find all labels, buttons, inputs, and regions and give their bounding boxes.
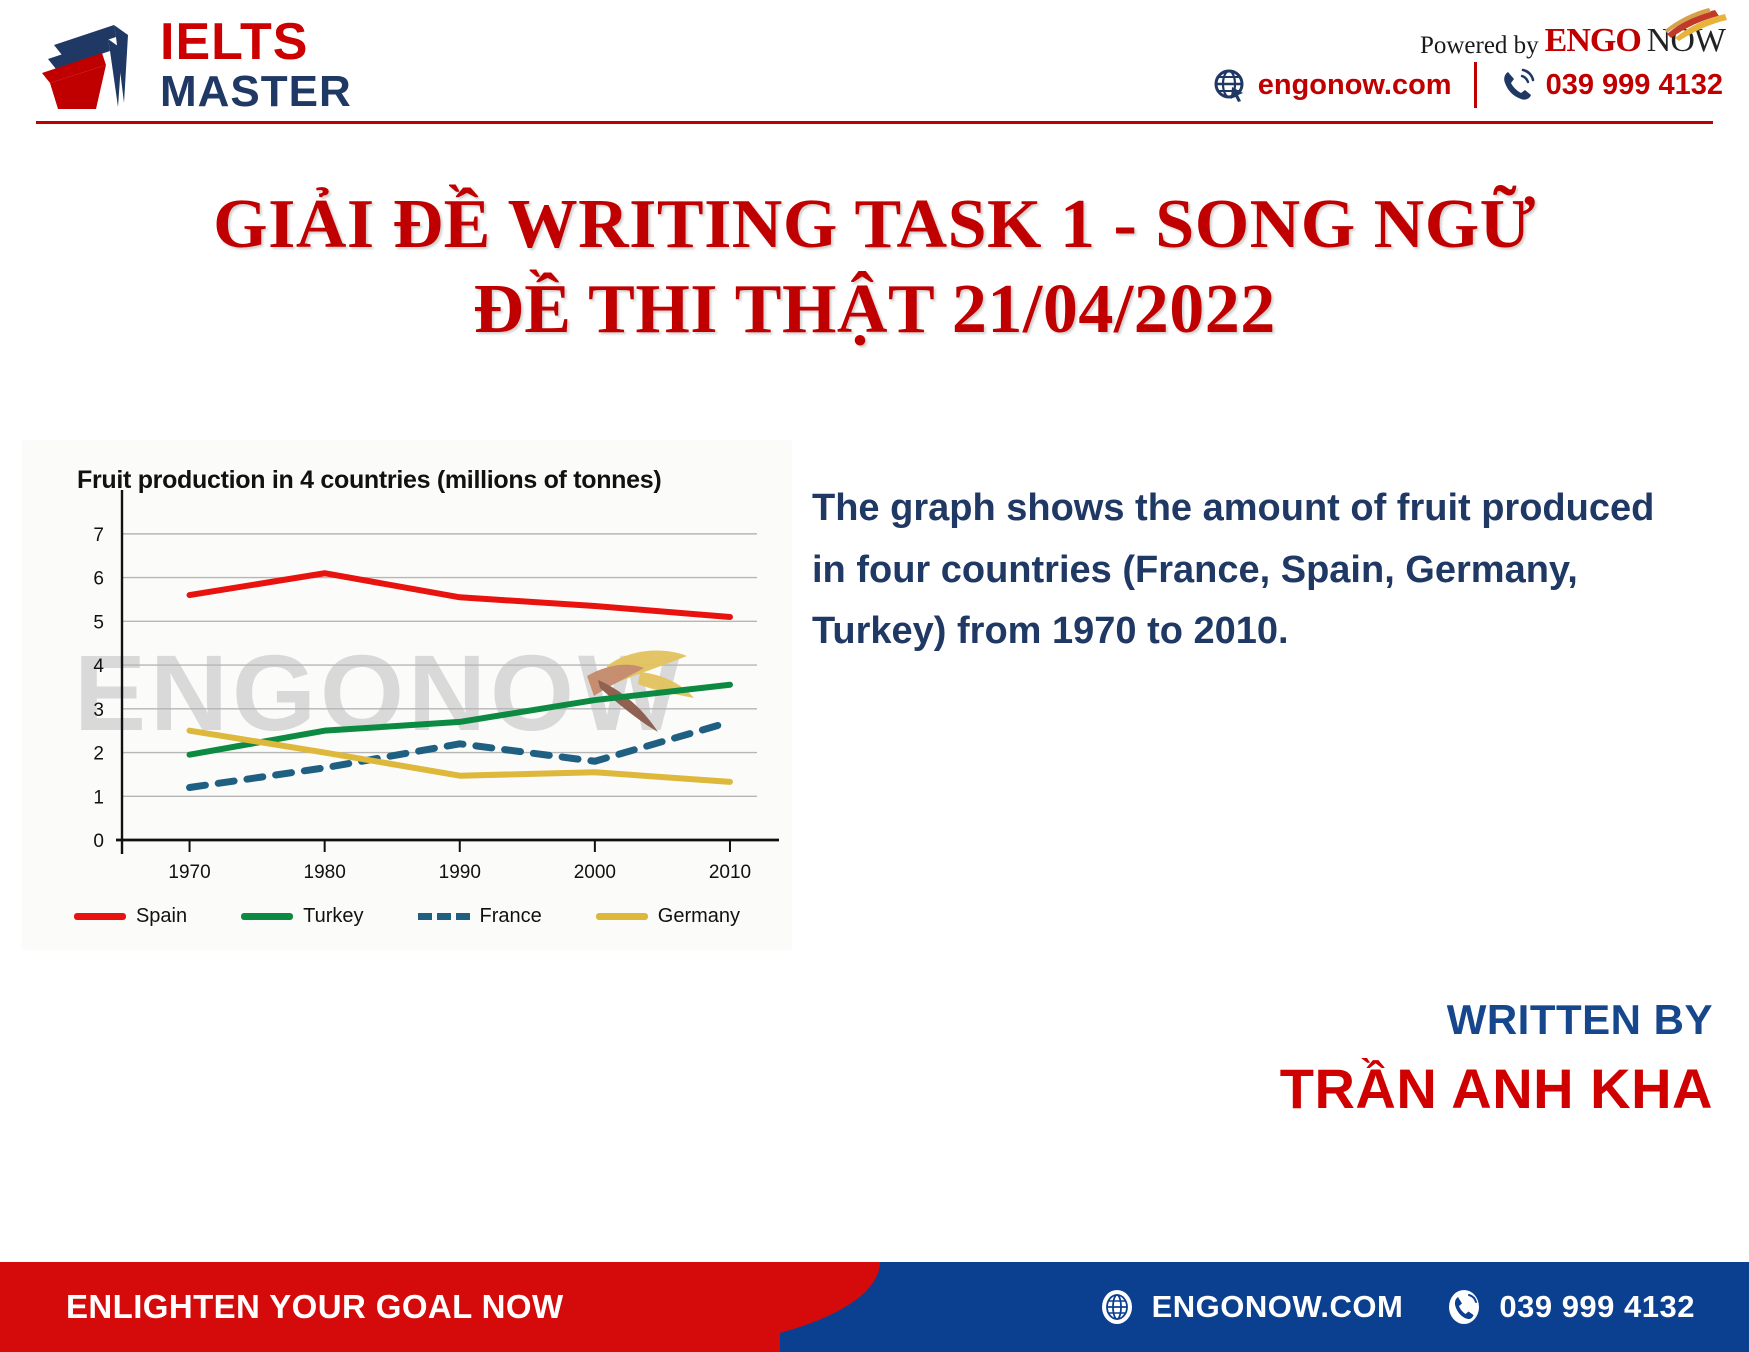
x-axis-tick-label: 1970	[168, 862, 210, 883]
book-swoosh-icon	[1663, 8, 1731, 42]
legend-swatch-icon	[418, 913, 470, 920]
y-axis-tick-label: 5	[93, 612, 104, 633]
header-divider	[1474, 62, 1477, 108]
page-title-line-1: GIẢI ĐỀ WRITING TASK 1 - SONG NGỮ	[0, 182, 1749, 267]
x-axis-tick-label: 1990	[439, 862, 481, 883]
chart-series-spain	[190, 573, 730, 617]
footer-website[interactable]: ENGONOW.COM	[1098, 1288, 1404, 1326]
y-axis-tick-label: 7	[93, 525, 104, 546]
legend-label: Spain	[136, 905, 187, 928]
page-header: IELTS MASTER Powered by ENGO NOW engonow…	[0, 0, 1749, 130]
y-axis-tick-label: 4	[93, 656, 104, 677]
y-axis-tick-label: 3	[93, 700, 104, 721]
x-axis-tick-label: 2010	[709, 862, 751, 883]
phone-icon	[1499, 67, 1535, 103]
y-axis-tick-label: 0	[93, 831, 104, 852]
legend-swatch-icon	[596, 913, 648, 920]
header-phone-text: 039 999 4132	[1546, 69, 1723, 102]
chart-card: Fruit production in 4 countries (million…	[22, 440, 792, 950]
header-contact-row: engonow.com 039 999 4132	[1213, 62, 1723, 108]
footer-website-text: ENGONOW.COM	[1152, 1289, 1404, 1325]
header-phone[interactable]: 039 999 4132	[1499, 67, 1723, 103]
footer-phone[interactable]: 039 999 4132	[1445, 1288, 1695, 1326]
stacked-books-logo-icon	[36, 17, 156, 113]
legend-label: Turkey	[303, 905, 363, 928]
chart-legend: SpainTurkeyFranceGermany	[22, 905, 792, 928]
y-axis-tick-label: 2	[93, 744, 104, 765]
author-name: TRẦN ANH KHA	[1013, 1056, 1713, 1121]
page-title-line-2: ĐỀ THI THẬT 21/04/2022	[0, 267, 1749, 352]
legend-swatch-icon	[241, 913, 293, 920]
footer-phone-text: 039 999 4132	[1499, 1289, 1695, 1325]
powered-by-prefix: Powered by	[1420, 32, 1539, 60]
page-title: GIẢI ĐỀ WRITING TASK 1 - SONG NGỮ ĐỀ THI…	[0, 182, 1749, 353]
legend-label: France	[480, 905, 542, 928]
phone-icon	[1445, 1288, 1483, 1326]
legend-item-france[interactable]: France	[418, 905, 542, 928]
x-axis-tick-label: 1980	[304, 862, 346, 883]
legend-label: Germany	[658, 905, 740, 928]
y-axis-tick-label: 1	[93, 787, 104, 808]
author-block: WRITTEN BY TRẦN ANH KHA	[1013, 996, 1713, 1121]
y-axis-tick-label: 6	[93, 569, 104, 590]
written-by-label: WRITTEN BY	[1013, 996, 1713, 1044]
chart-plot-area: 0123456719701980199020002010	[22, 440, 792, 950]
brand-logo[interactable]: IELTS MASTER	[36, 16, 352, 114]
globe-icon	[1098, 1288, 1136, 1326]
legend-swatch-icon	[74, 913, 126, 920]
legend-item-spain[interactable]: Spain	[74, 905, 187, 928]
powered-brand-engo: ENGO	[1545, 22, 1641, 60]
logo-text-master: MASTER	[160, 70, 352, 114]
header-divider-rule	[36, 121, 1713, 124]
legend-item-turkey[interactable]: Turkey	[241, 905, 363, 928]
logo-text-ielts: IELTS	[160, 16, 352, 68]
task-prompt: The graph shows the amount of fruit prod…	[812, 478, 1692, 663]
x-axis-tick-label: 2000	[574, 862, 616, 883]
task-prompt-text: The graph shows the amount of fruit prod…	[812, 478, 1692, 663]
footer-contact-row: ENGONOW.COM 039 999 4132	[1098, 1262, 1695, 1352]
header-website[interactable]: engonow.com	[1213, 68, 1452, 102]
globe-cursor-icon	[1213, 68, 1247, 102]
header-website-text: engonow.com	[1258, 69, 1452, 102]
powered-by-block: Powered by ENGO NOW	[1420, 22, 1725, 60]
legend-item-germany[interactable]: Germany	[596, 905, 740, 928]
page-footer: ENLIGHTEN YOUR GOAL NOW ENGONOW.COM 039 …	[0, 1262, 1749, 1352]
footer-slogan: ENLIGHTEN YOUR GOAL NOW	[66, 1262, 564, 1352]
